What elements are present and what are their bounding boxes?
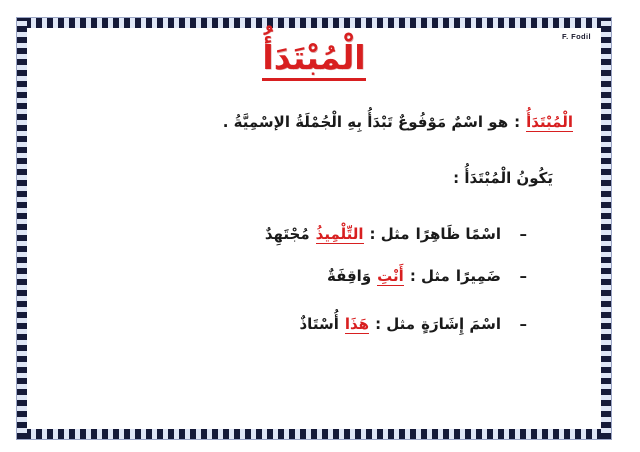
page-title-text: الْمُبْتَدَأُ [262, 38, 365, 81]
list-item: –اسْمَ إِشَارَةٍمثل :هَذَاأُسْتَاذٌ [299, 314, 527, 336]
frame-border-left [17, 18, 27, 439]
page-title: الْمُبْتَدَأُ [27, 40, 601, 76]
slide-canvas: F. Fodil الْمُبْتَدَأُ الْمُبْتَدَأُ:هو … [0, 0, 640, 452]
frame-border-right [601, 18, 611, 439]
lead-in-text: يَكُونُ الْمُبْتَدَأُ : [453, 169, 553, 187]
list-item: –اسْمًا ظَاهِرًامثل :التِّلْمِيذُمُجْتَه… [265, 224, 527, 246]
item-dash-marker: – [501, 314, 527, 336]
item-example-highlight: التِّلْمِيذُ [316, 225, 364, 244]
definition-text: هو اسْمٌ مَوْفُوعٌ تَبْدَأُ بِهِ الْجُمْ… [223, 113, 508, 131]
definition-line: الْمُبْتَدَأُ:هو اسْمٌ مَوْفُوعٌ تَبْدَأ… [223, 112, 573, 134]
item-example-rest: وَاقِفَةٌ [327, 267, 371, 285]
item-type: ضَمِيرًا [456, 267, 501, 285]
decorative-frame: F. Fodil الْمُبْتَدَأُ الْمُبْتَدَأُ:هو … [17, 18, 611, 439]
item-example-label: مثل : [410, 267, 450, 285]
item-example-label: مثل : [375, 315, 415, 333]
item-example-label: مثل : [370, 225, 410, 243]
item-dash-marker: – [501, 266, 527, 288]
item-type: اسْمًا ظَاهِرًا [416, 225, 501, 243]
definition-term: الْمُبْتَدَأُ [526, 113, 573, 132]
slide-content: F. Fodil الْمُبْتَدَأُ الْمُبْتَدَأُ:هو … [27, 28, 601, 429]
lead-in-line: يَكُونُ الْمُبْتَدَأُ : [453, 168, 553, 190]
item-example-highlight: أَنْتِ [377, 267, 404, 286]
item-example-rest: مُجْتَهِدٌ [265, 225, 310, 243]
definition-separator: : [514, 113, 520, 131]
frame-border-bottom [17, 429, 611, 439]
frame-border-top [17, 18, 611, 28]
item-type: اسْمَ إِشَارَةٍ [421, 315, 501, 333]
item-example-rest: أُسْتَاذٌ [299, 315, 338, 333]
list-item: –ضَمِيرًامثل :أَنْتِوَاقِفَةٌ [327, 266, 527, 288]
item-example-highlight: هَذَا [345, 315, 369, 334]
item-dash-marker: – [501, 224, 527, 246]
